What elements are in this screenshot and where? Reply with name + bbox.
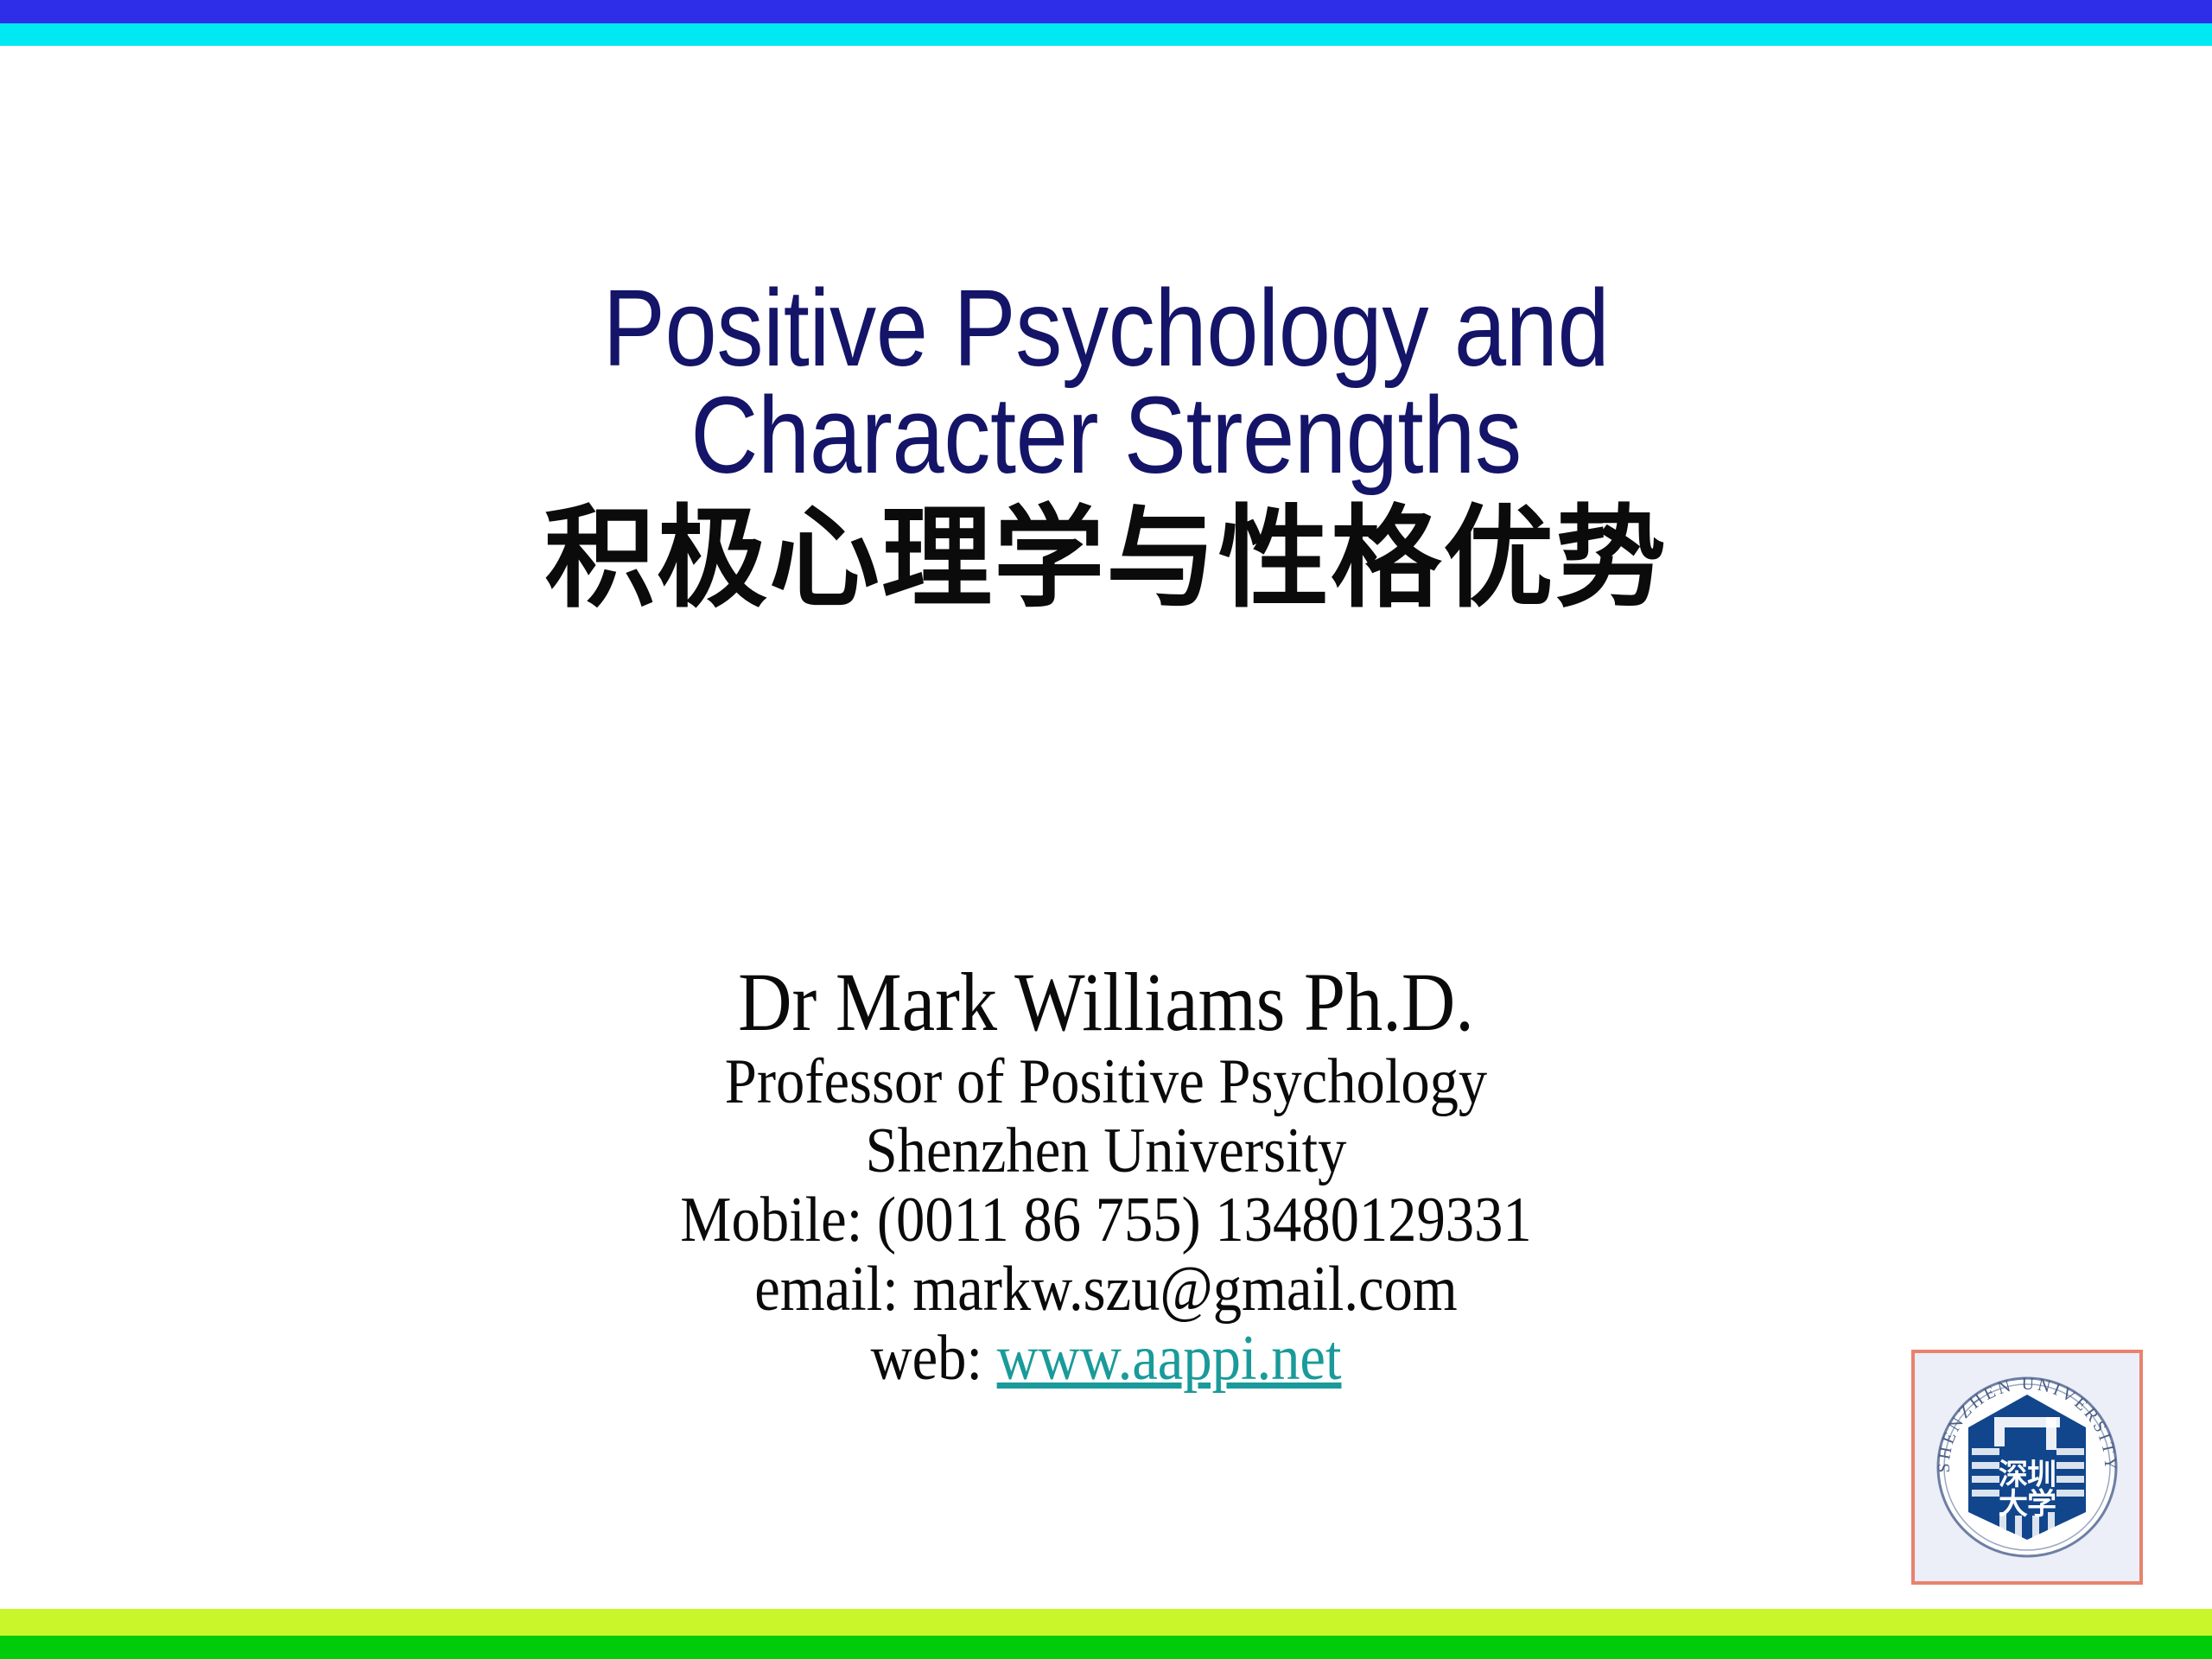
title-line-1: Positive Psychology and <box>155 275 2057 382</box>
top-blue-band <box>0 0 2212 23</box>
author-role: Professor of Positive Psychology <box>111 1047 2101 1116</box>
author-affiliation: Shenzhen University <box>111 1116 2101 1185</box>
author-name: Dr Mark Williams Ph.D. <box>111 957 2101 1047</box>
svg-text:大学: 大学 <box>1999 1487 2056 1522</box>
author-web-label: web: <box>871 1323 997 1394</box>
author-web-row: web: www.aappi.net <box>111 1324 2101 1393</box>
author-contact-block: Dr Mark Williams Ph.D. Professor of Posi… <box>0 957 2212 1393</box>
author-web-link[interactable]: www.aappi.net <box>997 1323 1342 1394</box>
title-line-chinese: 积极心理学与性格优势 <box>0 494 2212 624</box>
bottom-green-band <box>0 1636 2212 1659</box>
top-cyan-band <box>0 23 2212 46</box>
slide-title-block: Positive Psychology and Character Streng… <box>0 275 2212 624</box>
title-line-2: Character Strengths <box>155 382 2057 489</box>
author-mobile: Mobile: (0011 86 755) 13480129331 <box>111 1185 2101 1255</box>
bottom-chartreuse-band <box>0 1609 2212 1636</box>
shenzhen-university-logo-frame: SHENZHEN UNIVERSITY 1983 <box>1911 1350 2143 1585</box>
author-email: email: markw.szu@gmail.com <box>111 1255 2101 1324</box>
shenzhen-university-seal-icon: SHENZHEN UNIVERSITY 1983 <box>1925 1363 2129 1571</box>
